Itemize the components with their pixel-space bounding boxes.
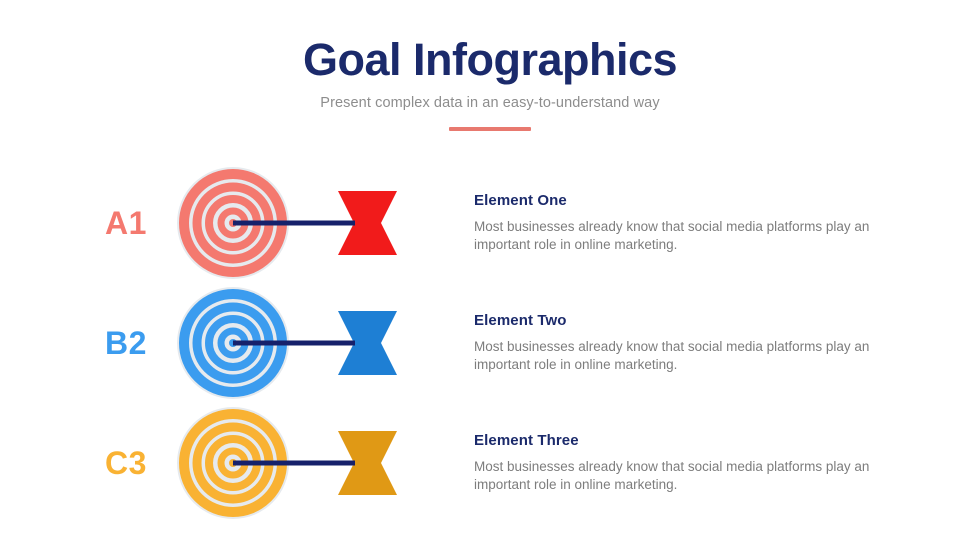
item-title: Element One bbox=[474, 192, 894, 209]
accent-divider bbox=[449, 127, 531, 131]
header: Goal Infographics Present complex data i… bbox=[0, 36, 980, 131]
item-title: Element Two bbox=[474, 312, 894, 329]
item-content-a1: Element One Most businesses already know… bbox=[474, 192, 894, 254]
target-arrow-graphic-c3 bbox=[176, 407, 406, 519]
target-arrow-graphic-a1 bbox=[176, 167, 406, 279]
arrow-shaft-icon bbox=[233, 221, 355, 226]
infographic-row[interactable]: B2 Element Two Most businesses already k… bbox=[0, 283, 980, 403]
arrow-shaft-icon bbox=[233, 341, 355, 346]
infographic-row[interactable]: A1 Element One Most businesses already k… bbox=[0, 163, 980, 283]
item-description: Most businesses already know that social… bbox=[474, 218, 879, 254]
item-description: Most businesses already know that social… bbox=[474, 338, 879, 374]
item-content-c3: Element Three Most businesses already kn… bbox=[474, 432, 894, 494]
item-title: Element Three bbox=[474, 432, 894, 449]
target-icon bbox=[176, 287, 406, 399]
infographic-row[interactable]: C3 Element Three Most businesses already… bbox=[0, 403, 980, 523]
arrow-shaft-icon bbox=[233, 461, 355, 466]
item-description: Most businesses already know that social… bbox=[474, 458, 879, 494]
item-code-c3: C3 bbox=[78, 445, 174, 482]
infographic-rows: A1 Element One Most businesses already k… bbox=[0, 163, 980, 523]
item-code-b2: B2 bbox=[78, 325, 174, 362]
target-icon bbox=[176, 167, 406, 279]
target-arrow-graphic-b2 bbox=[176, 287, 406, 399]
page-subtitle: Present complex data in an easy-to-under… bbox=[0, 95, 980, 111]
page-title: Goal Infographics bbox=[0, 36, 980, 83]
item-code-a1: A1 bbox=[78, 205, 174, 242]
target-icon bbox=[176, 407, 406, 519]
item-content-b2: Element Two Most businesses already know… bbox=[474, 312, 894, 374]
